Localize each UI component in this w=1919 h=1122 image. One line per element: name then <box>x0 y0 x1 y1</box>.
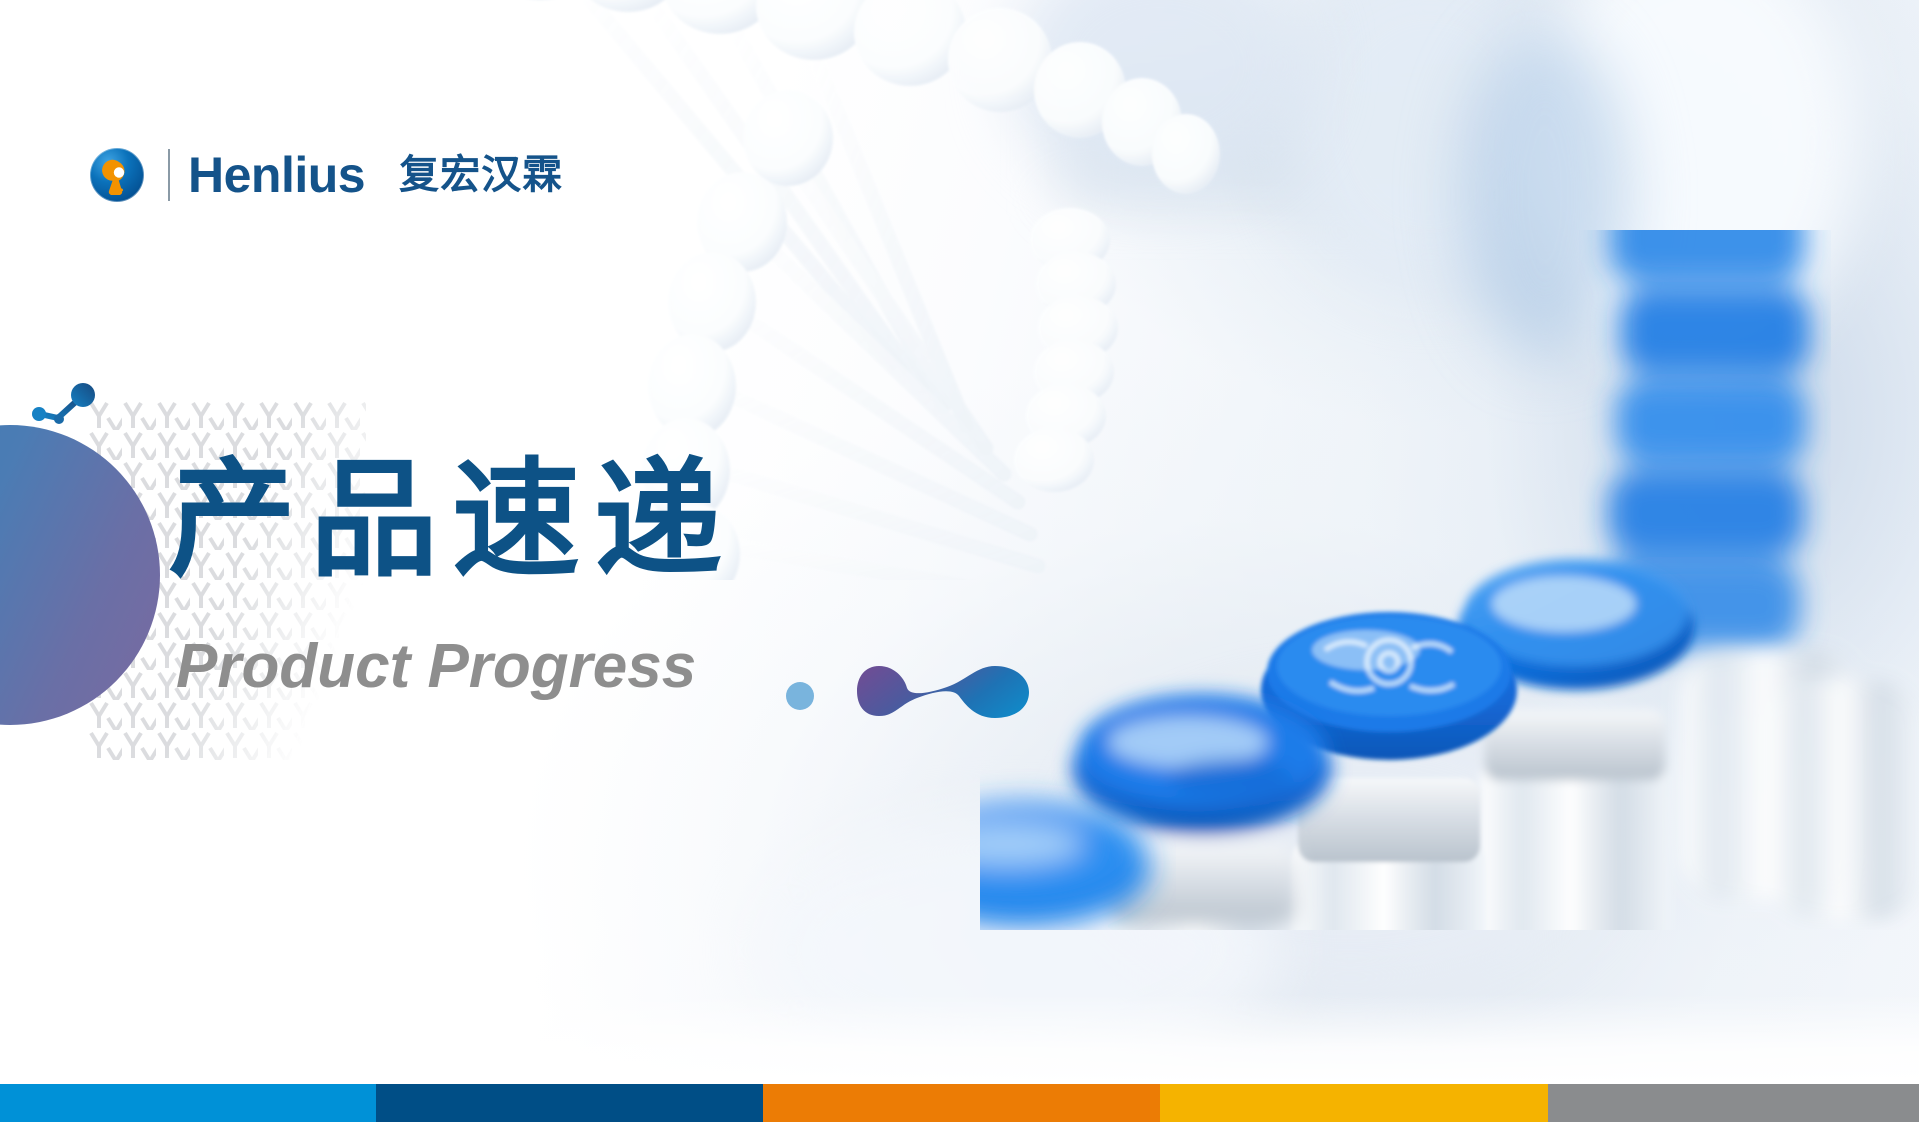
page-subtitle-english: Product Progress <box>176 636 696 698</box>
molecule-icon-small <box>28 382 100 432</box>
bar-segment-dark-blue <box>376 1084 763 1122</box>
molecule-icon-large <box>855 660 1035 722</box>
bar-segment-amber <box>1160 1084 1548 1122</box>
logo-divider <box>168 149 170 201</box>
henlius-logo-mark <box>88 146 146 204</box>
bar-segment-orange <box>763 1084 1160 1122</box>
page-title-chinese: 产品速递 <box>168 452 736 590</box>
bottom-color-bar <box>0 1084 1919 1122</box>
accent-dot <box>786 682 814 710</box>
bar-segment-light-blue <box>0 1084 376 1122</box>
henlius-logo[interactable]: Henlius 复宏汉霖 <box>88 146 563 204</box>
logo-wordmark: Henlius <box>188 150 365 200</box>
bar-segment-gray <box>1548 1084 1919 1122</box>
slide-root: Henlius 复宏汉霖 产品速递 Product Progress <box>0 0 1919 1122</box>
vaccine-vials-photo <box>980 230 1919 930</box>
logo-chinese-name: 复宏汉霖 <box>399 155 563 195</box>
